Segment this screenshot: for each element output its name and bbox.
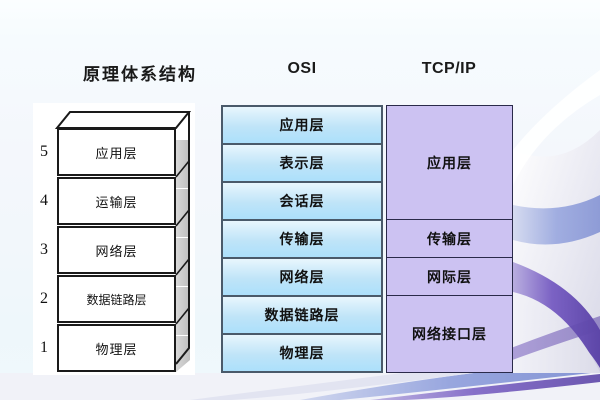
- osi-row-application[interactable]: 应用层: [221, 105, 383, 145]
- level-number-4: 4: [33, 192, 55, 210]
- tcpip-row-internet[interactable]: 网际层: [386, 257, 513, 296]
- heading-principle-architecture: 原理体系结构: [60, 60, 220, 85]
- stack-layer-application[interactable]: 应用层: [57, 128, 176, 176]
- osi-label-7: 物理层: [280, 343, 325, 363]
- stack-layer-physical[interactable]: 物理层: [57, 324, 176, 372]
- osi-label-2: 表示层: [280, 153, 325, 173]
- osi-label-4: 传输层: [280, 229, 325, 249]
- tcpip-row-application[interactable]: 应用层: [386, 105, 513, 220]
- osi-label-5: 网络层: [280, 267, 325, 287]
- tcpip-label-4: 网络接口层: [412, 324, 487, 344]
- stack-layer-label-4: 运输层: [95, 192, 137, 211]
- osi-row-network[interactable]: 网络层: [221, 257, 383, 297]
- osi-row-session[interactable]: 会话层: [221, 181, 383, 221]
- tcpip-row-transport[interactable]: 传输层: [386, 219, 513, 258]
- tcpip-column: 应用层 传输层 网际层 网络接口层: [386, 105, 513, 373]
- osi-label-3: 会话层: [280, 191, 325, 211]
- level-number-1: 1: [33, 339, 55, 357]
- osi-label-6: 数据链路层: [265, 305, 340, 325]
- slide-canvas: 原理体系结构 OSI TCP/IP 5 4 3 2 1 应用层: [0, 0, 600, 400]
- osi-label-1: 应用层: [280, 115, 325, 135]
- tcpip-label-2: 传输层: [427, 229, 472, 249]
- osi-row-presentation[interactable]: 表示层: [221, 143, 383, 183]
- stack-layer-transport[interactable]: 运输层: [57, 177, 176, 225]
- level-number-5: 5: [33, 143, 55, 161]
- osi-row-datalink[interactable]: 数据链路层: [221, 295, 383, 335]
- principle-3d-stack: 应用层 运输层 网络层 数据链路层 物理层: [57, 110, 189, 372]
- heading-tcpip: TCP/IP: [386, 60, 512, 78]
- osi-row-transport[interactable]: 传输层: [221, 219, 383, 259]
- tcpip-label-3: 网际层: [427, 267, 472, 287]
- tcpip-label-1: 应用层: [427, 153, 472, 173]
- stack-layer-label-3: 网络层: [95, 241, 137, 260]
- heading-osi: OSI: [222, 60, 382, 78]
- level-number-3: 3: [33, 241, 55, 259]
- tcpip-row-network-interface[interactable]: 网络接口层: [386, 295, 513, 373]
- stack-layer-label-1: 物理层: [95, 339, 137, 358]
- osi-column: 应用层 表示层 会话层 传输层 网络层 数据链路层 物理层: [221, 105, 383, 373]
- osi-row-physical[interactable]: 物理层: [221, 333, 383, 373]
- level-number-2: 2: [33, 290, 55, 308]
- stack-layer-label-2: 数据链路层: [86, 291, 146, 308]
- stack-layer-label-5: 应用层: [95, 143, 137, 162]
- stack-layer-network[interactable]: 网络层: [57, 226, 176, 274]
- stack-layer-datalink[interactable]: 数据链路层: [57, 275, 176, 323]
